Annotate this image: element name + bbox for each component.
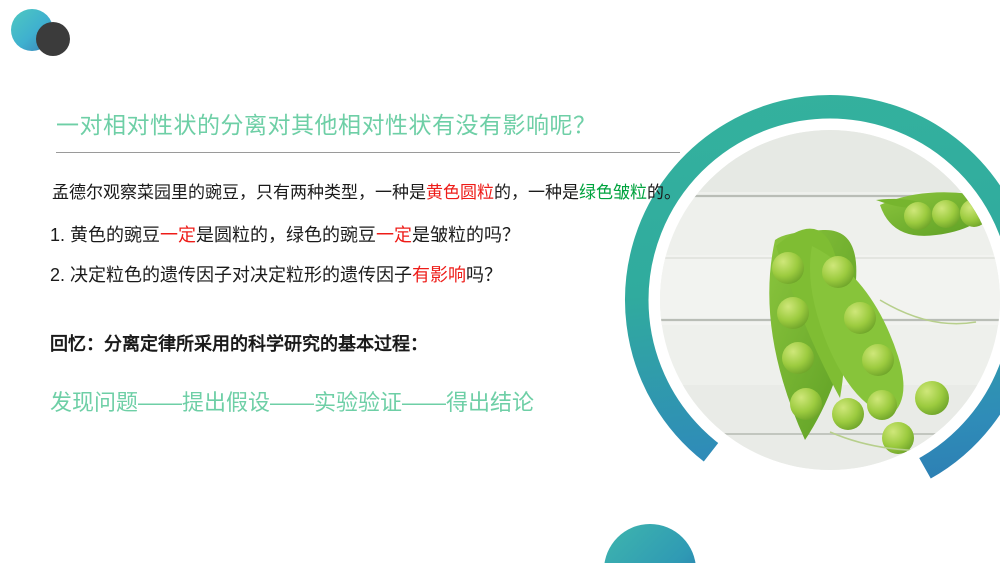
title-divider	[56, 152, 680, 153]
process-flow: 发现问题——提出假设——实验验证——得出结论	[50, 385, 534, 417]
question-1: 1. 黄色的豌豆一定是圆粒的，绿色的豌豆一定是皱粒的吗？	[50, 221, 520, 247]
question-1-seg-2: 是圆粒的，绿色的豌豆	[196, 225, 376, 245]
logo-dark-circle-icon	[36, 22, 70, 56]
intro-seg-0: 孟德尔观察菜园里的豌豆，只有两种类型，一种是	[52, 183, 426, 202]
recall-heading: 回忆：分离定律所采用的科学研究的基本过程：	[50, 330, 428, 356]
question-2: 2. 决定粒色的遗传因子对决定粒形的遗传因子有影响吗？	[50, 261, 502, 287]
question-1-seg-1-must: 一定	[160, 225, 196, 245]
presentation-slide: 一对相对性状的分离对其他相对性状有没有影响呢？ 孟德尔观察菜园里的豌豆，只有两种…	[0, 0, 1000, 563]
ring-arc-icon	[580, 30, 1000, 563]
brand-logo	[8, 6, 80, 54]
intro-seg-2: 的，一种是	[494, 183, 579, 202]
question-2-seg-2: 吗？	[466, 265, 502, 285]
question-1-seg-3-must: 一定	[376, 225, 412, 245]
teal-gradient-circle-icon	[604, 524, 696, 563]
intro-seg-4: 的。	[647, 183, 681, 202]
page-title: 一对相对性状的分离对其他相对性状有没有影响呢？	[56, 106, 597, 140]
pea-pods-photo	[660, 130, 1000, 563]
intro-seg-1-yellow-round: 黄色圆粒	[426, 183, 494, 202]
question-2-seg-0: 决定粒色的遗传因子对决定粒形的遗传因子	[65, 265, 412, 285]
slide-decoration	[580, 0, 1000, 563]
question-2-seg-1-has-effect: 有影响	[412, 265, 466, 285]
intro-paragraph: 孟德尔观察菜园里的豌豆，只有两种类型，一种是黄色圆粒的，一种是绿色皱粒的。	[52, 178, 681, 203]
question-2-number: 2.	[50, 265, 65, 285]
intro-seg-3-green-wrinkled: 绿色皱粒	[579, 183, 647, 202]
question-1-number: 1.	[50, 225, 65, 245]
question-1-seg-0: 黄色的豌豆	[65, 225, 160, 245]
question-1-seg-4: 是皱粒的吗？	[412, 225, 520, 245]
